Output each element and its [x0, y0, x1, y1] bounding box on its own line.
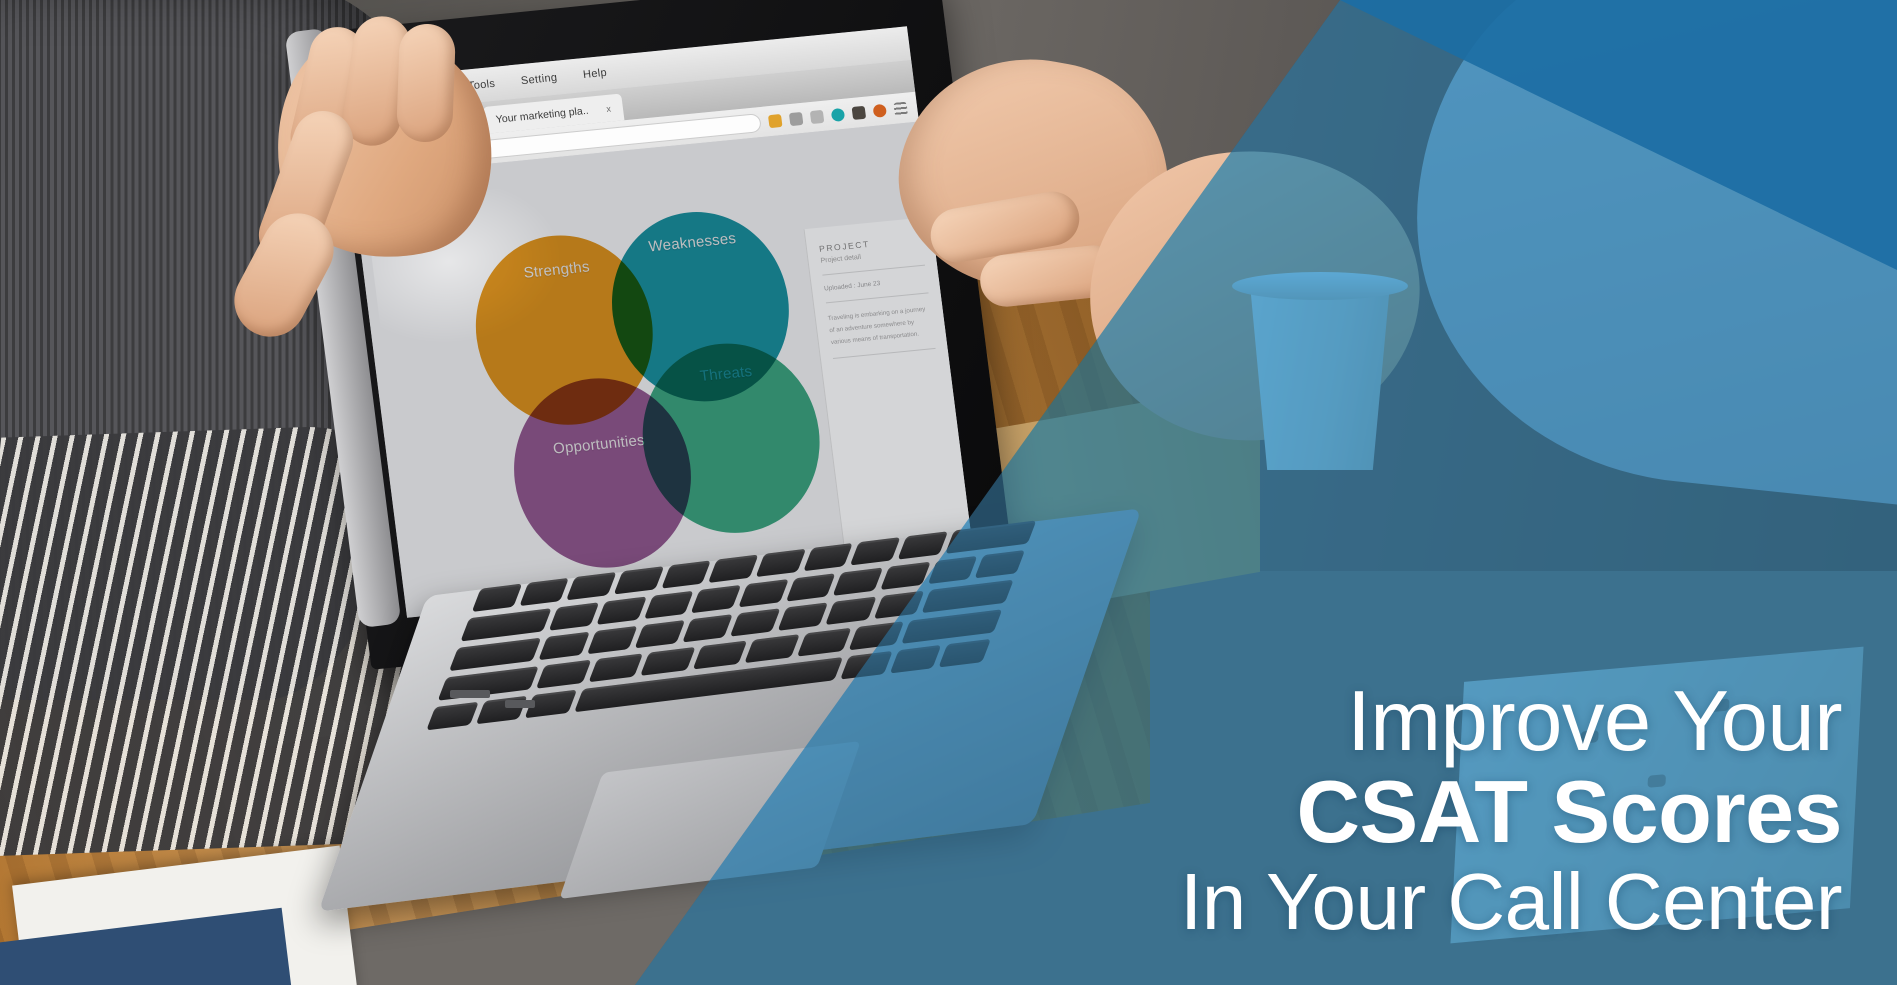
headline-line-1: Improve Your: [1180, 679, 1842, 766]
swot-venn-diagram: Strengths Weaknesses Opportunities Threa…: [456, 209, 826, 569]
menu-hamburger-icon[interactable]: [893, 101, 908, 115]
swot-label-opportunities: Opportunities: [552, 432, 646, 458]
panel-upload-meta: Uploaded : June 23: [824, 276, 927, 293]
swot-label-threats: Threats: [699, 363, 753, 385]
banner-canvas: File Edit Tools Setting Help Creativity …: [0, 0, 1897, 985]
apps-grid-icon[interactable]: [810, 109, 825, 123]
panel-divider: [833, 348, 936, 359]
extension-teal-icon[interactable]: [831, 107, 846, 121]
panel-divider: [822, 265, 925, 276]
tab-close-icon[interactable]: x: [606, 103, 612, 113]
tab-label: Your marketing pla..: [495, 104, 589, 125]
extension-dark-icon[interactable]: [852, 105, 867, 119]
menu-item-setting[interactable]: Setting: [520, 72, 558, 87]
swot-label-strengths: Strengths: [523, 258, 591, 281]
swot-label-weaknesses: Weaknesses: [648, 230, 737, 255]
headline-line-3: In Your Call Center: [1180, 859, 1842, 945]
menu-item-help[interactable]: Help: [582, 67, 607, 81]
laptop-port: [450, 690, 490, 698]
reload-icon[interactable]: [789, 111, 804, 125]
headline-line-2: CSAT Scores: [1180, 765, 1842, 858]
finger: [396, 23, 456, 143]
laptop-port: [505, 700, 535, 708]
extension-orange-icon[interactable]: [872, 103, 887, 117]
panel-divider: [826, 292, 929, 303]
panel-body-text: Traveling is embarking on a journey of a…: [827, 303, 934, 348]
bookmark-star-icon[interactable]: [768, 113, 783, 127]
headline-block: Improve Your CSAT Scores In Your Call Ce…: [1180, 679, 1842, 945]
